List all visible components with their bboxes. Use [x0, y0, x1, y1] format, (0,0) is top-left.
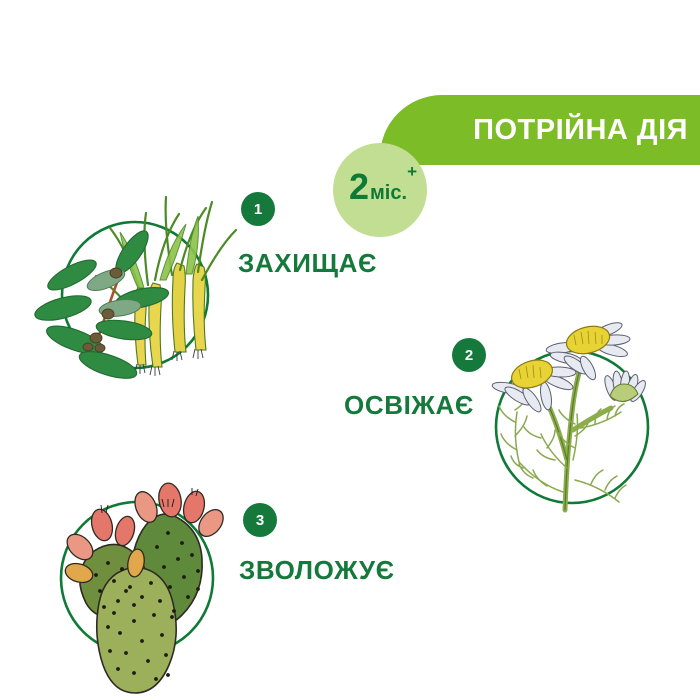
- feature-number-badge-1: 1: [241, 192, 275, 226]
- infographic-canvas: ПОТРІЙНА ДІЯ 2 міс. + 1 ЗАХИЩАЄ 2 ОСВІЖА…: [0, 0, 700, 700]
- chamomile-illustration: [455, 310, 690, 545]
- cactus-illustration: [22, 455, 257, 695]
- duration-badge: 2 міс. +: [333, 143, 427, 237]
- banner-title: ПОТРІЙНА ДІЯ: [473, 116, 688, 145]
- duration-unit: міс.: [370, 183, 407, 203]
- feature-number-badge-3: 3: [243, 503, 277, 537]
- duration-badge-content: 2 міс. +: [349, 169, 407, 205]
- eucalyptus-lemongrass-illustration: [20, 180, 250, 410]
- duration-number: 2: [349, 169, 369, 205]
- duration-plus-sign: +: [407, 163, 417, 180]
- feature-label-3: ЗВОЛОЖУЄ: [239, 557, 395, 583]
- feature-number-badge-2: 2: [452, 338, 486, 372]
- feature-label-1: ЗАХИЩАЄ: [238, 250, 377, 276]
- header-banner: ПОТРІЙНА ДІЯ: [380, 95, 700, 165]
- feature-label-2: ОСВІЖАЄ: [344, 392, 474, 418]
